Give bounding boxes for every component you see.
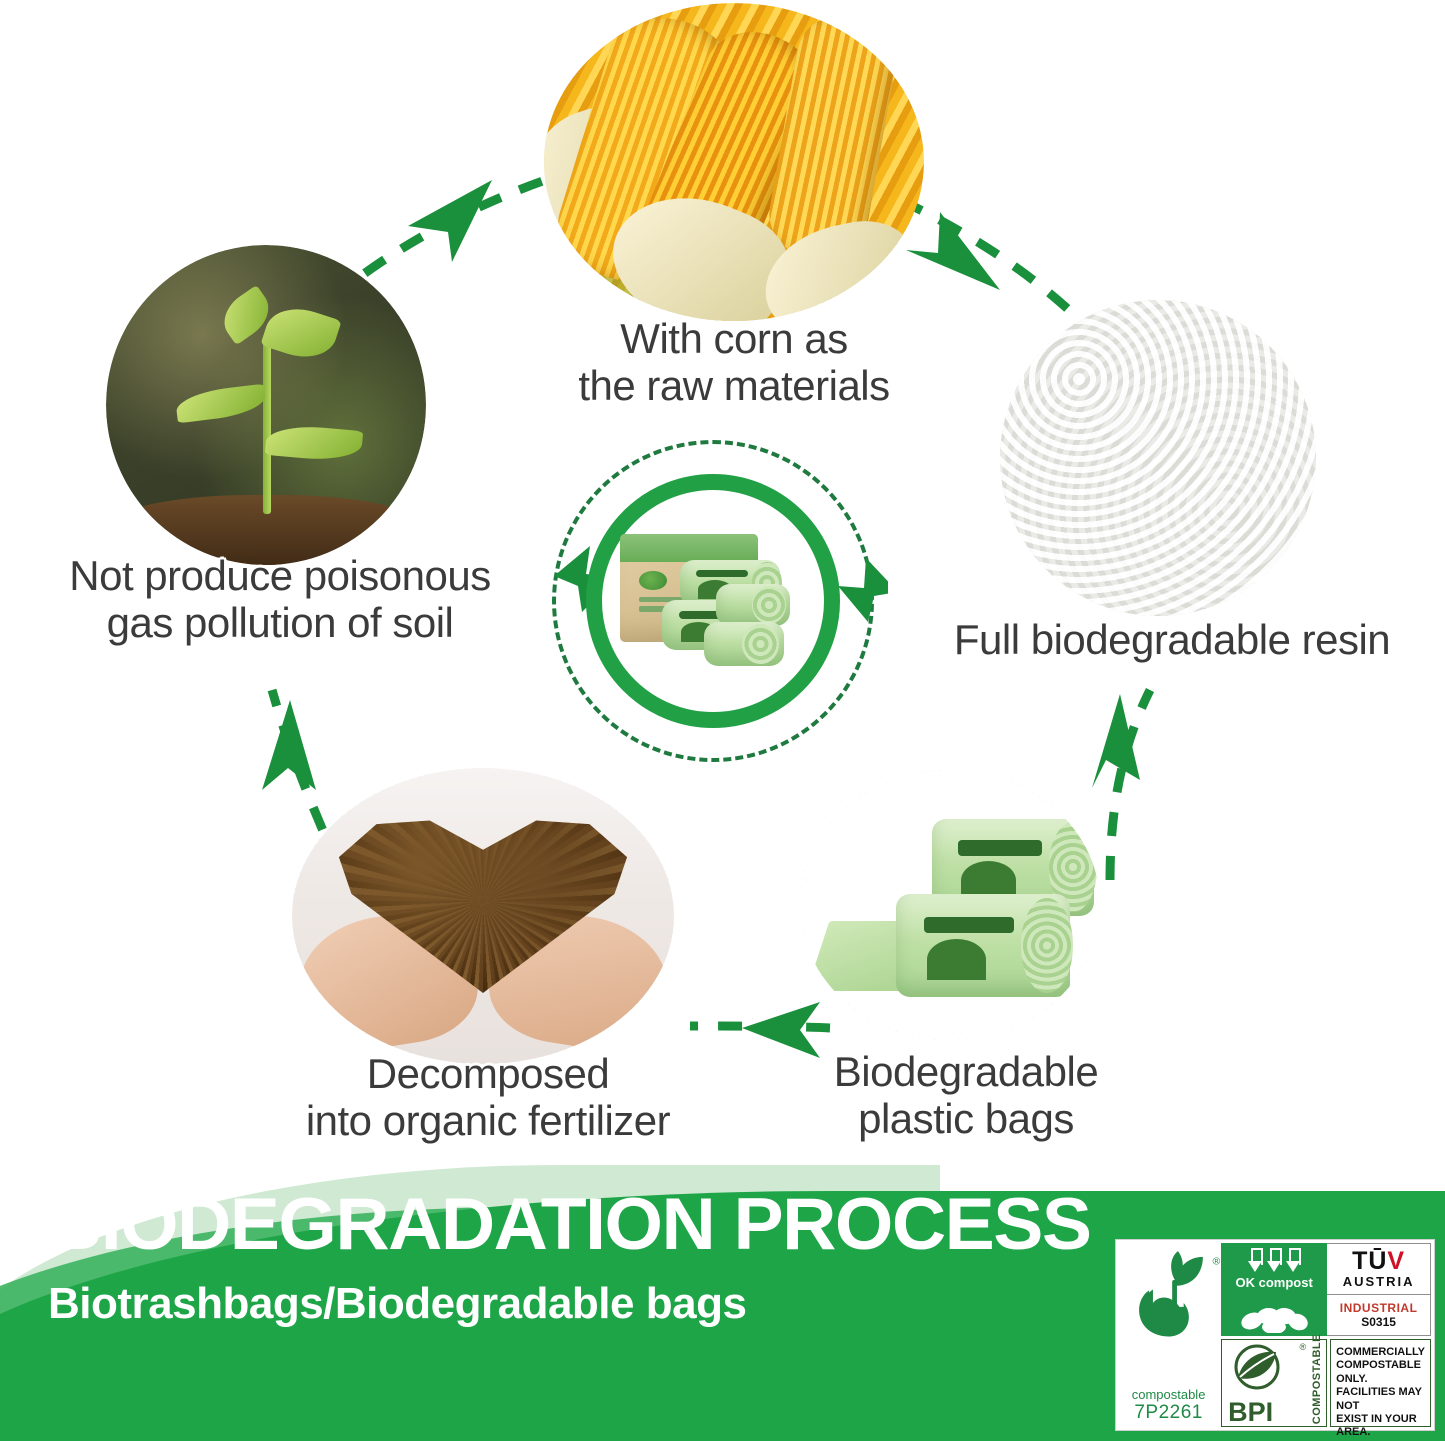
arrowhead-corn-to-resin bbox=[906, 212, 1000, 290]
ok-compost-mark: OK compost bbox=[1221, 1243, 1327, 1336]
seedling-number: 7P2261 bbox=[1134, 1402, 1203, 1424]
bpi-word: BPI bbox=[1222, 1399, 1273, 1426]
label-bags: Biodegradable plastic bags bbox=[780, 1048, 1152, 1142]
label-soil-line1: Not produce poisonous bbox=[10, 552, 550, 599]
node-bags[interactable] bbox=[800, 770, 1100, 1040]
center-emblem[interactable] bbox=[552, 440, 874, 762]
tuv-austria-mark: TŪV AUSTRIA INDUSTRIAL S0315 bbox=[1327, 1243, 1431, 1336]
product-bag-roll bbox=[716, 584, 790, 626]
banner-subtitle: Biotrashbags/Biodegradable bags bbox=[48, 1279, 746, 1329]
seedling-caption: compostable bbox=[1132, 1388, 1206, 1402]
arrowhead-soil-to-corn bbox=[408, 180, 492, 262]
cert-right-column: OK compost TŪV AUSTRIA bbox=[1221, 1240, 1434, 1430]
node-soil[interactable] bbox=[106, 245, 426, 565]
product-bag-roll bbox=[704, 622, 784, 666]
link-corn-to-resin bbox=[900, 200, 1090, 330]
link-bags-to-compost bbox=[690, 1026, 830, 1028]
svg-text:®: ® bbox=[1212, 1256, 1220, 1268]
bpi-leaf-icon bbox=[1228, 1344, 1286, 1390]
disclaimer-box: COMMERCIALLY COMPOSTABLE ONLY. FACILITIE… bbox=[1330, 1339, 1431, 1427]
tuv-country: AUSTRIA bbox=[1343, 1274, 1415, 1289]
disclaimer-line-4: EXIST IN YOUR AREA. bbox=[1336, 1413, 1425, 1440]
seedling-cert-block: ® compostable 7P2261 bbox=[1116, 1240, 1221, 1430]
tuv-top: TŪV AUSTRIA bbox=[1327, 1244, 1430, 1295]
label-resin-line1: Full biodegradable resin bbox=[898, 616, 1445, 663]
disclaimer-line-2: COMPOSTABLE ONLY. bbox=[1336, 1359, 1425, 1386]
node-ring-resin bbox=[1000, 300, 1316, 616]
bpi-vertical-word: COMPOSTABLE bbox=[1311, 1334, 1323, 1424]
label-compost: Decomposed into organic fertilizer bbox=[248, 1050, 728, 1144]
label-compost-line2: into organic fertilizer bbox=[248, 1097, 728, 1144]
label-corn-line2: the raw materials bbox=[508, 362, 960, 409]
label-bags-line2: plastic bags bbox=[780, 1095, 1152, 1142]
node-ring-soil bbox=[106, 245, 426, 565]
arrowhead-resin-to-bags bbox=[1092, 694, 1140, 788]
infographic-canvas: .dash{stroke:#1a8f3c;stroke-width:9;fill… bbox=[0, 0, 1445, 1441]
bpi-registered-mark: ® bbox=[1300, 1342, 1307, 1352]
label-soil: Not produce poisonous gas pollution of s… bbox=[10, 552, 550, 646]
node-compost[interactable] bbox=[292, 768, 674, 1064]
cert-row-bottom: ® BPI COMPOSTABLE COMMERCIALLY COMPOSTAB… bbox=[1221, 1339, 1431, 1427]
node-ring-corn bbox=[544, 3, 924, 321]
tuv-grade: INDUSTRIAL bbox=[1340, 1301, 1418, 1315]
label-bags-line1: Biodegradable bbox=[780, 1048, 1152, 1095]
cert-row-top: OK compost TŪV AUSTRIA bbox=[1221, 1243, 1431, 1336]
link-resin-to-bags bbox=[1110, 690, 1150, 880]
bottom-banner: BIODEGRADATION PROCESS Biotrashbags/Biod… bbox=[0, 1151, 1445, 1441]
seedling-compostable-icon: ® bbox=[1128, 1248, 1224, 1358]
certification-badge[interactable]: ® compostable 7P2261 OK compost bbox=[1115, 1239, 1435, 1431]
tuv-bottom: INDUSTRIAL S0315 bbox=[1327, 1295, 1430, 1335]
tuv-text: TŪV bbox=[1352, 1247, 1405, 1275]
label-soil-line2: gas pollution of soil bbox=[10, 599, 550, 646]
tuv-word: TŪV bbox=[1352, 1249, 1405, 1274]
node-ring-compost bbox=[292, 768, 674, 1064]
label-corn-line1: With corn as bbox=[508, 315, 960, 362]
label-compost-line1: Decomposed bbox=[248, 1050, 728, 1097]
arrowhead-center-right bbox=[838, 558, 888, 622]
disclaimer-line-1: COMMERCIALLY bbox=[1336, 1346, 1425, 1359]
ok-compost-label: OK compost bbox=[1236, 1275, 1313, 1290]
down-arrows-icon bbox=[1248, 1248, 1300, 1274]
disclaimer-line-3: FACILITIES MAY NOT bbox=[1336, 1386, 1425, 1413]
arrowhead-compost-to-soil bbox=[262, 700, 316, 790]
flower-icon bbox=[1238, 1305, 1310, 1333]
bpi-mark: ® BPI COMPOSTABLE bbox=[1221, 1339, 1327, 1427]
banner-title: BIODEGRADATION PROCESS bbox=[48, 1183, 1090, 1266]
node-corn[interactable] bbox=[544, 3, 924, 321]
node-resin[interactable] bbox=[1000, 300, 1316, 616]
label-corn: With corn as the raw materials bbox=[508, 315, 960, 409]
label-resin: Full biodegradable resin bbox=[898, 616, 1445, 663]
node-ring-bags bbox=[800, 770, 1100, 1040]
tuv-code: S0315 bbox=[1361, 1315, 1396, 1329]
